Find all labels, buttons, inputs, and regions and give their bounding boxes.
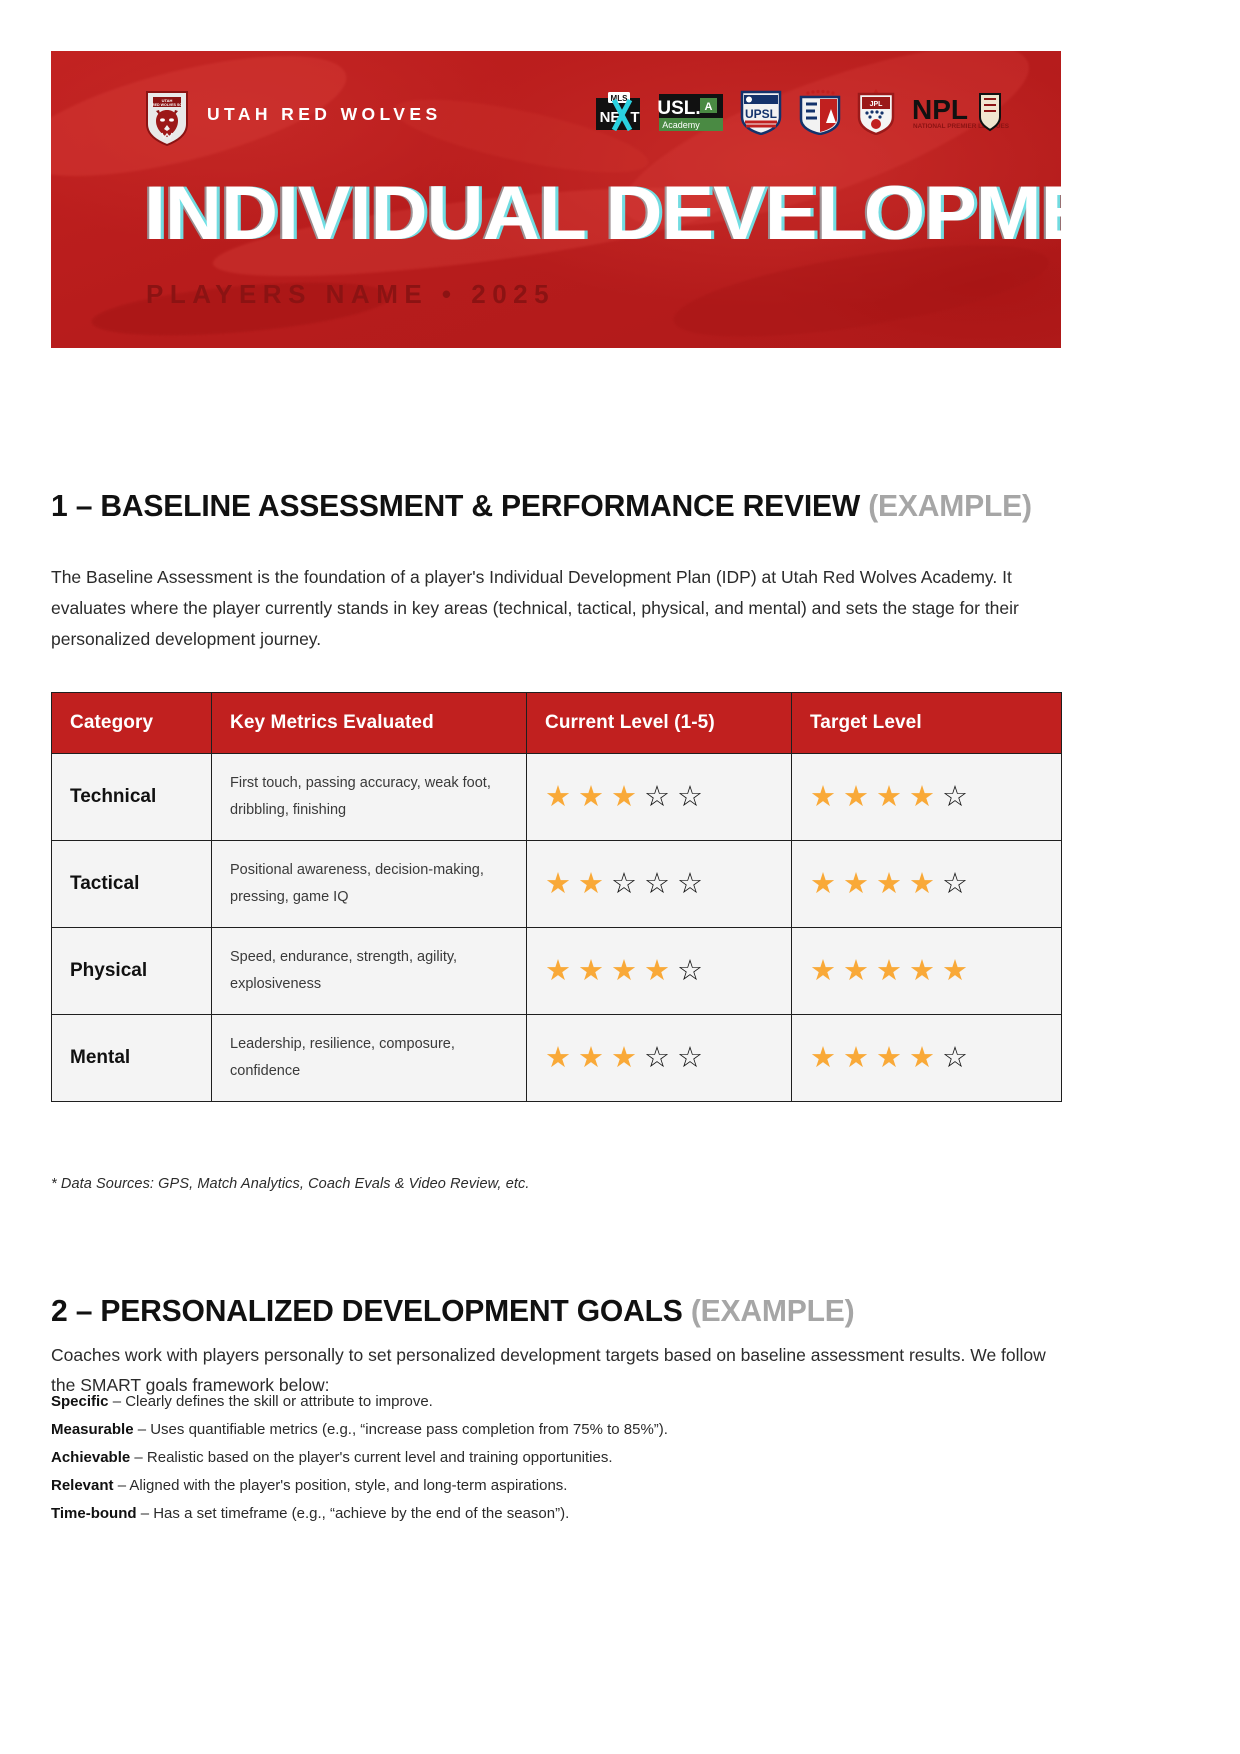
star-filled-icon: ★: [909, 1044, 935, 1073]
star-empty-icon: ☆: [611, 870, 637, 899]
column-header-key-metrics: Key Metrics Evaluated: [212, 693, 527, 754]
baseline-assessment-table: Category Key Metrics Evaluated Current L…: [51, 692, 1062, 1102]
club-name: UTAH RED WOLVES: [207, 104, 442, 125]
star-filled-icon: ★: [909, 957, 935, 986]
league-logo-row: MLS NE T USL. A Academy UPSL: [592, 87, 1016, 137]
smart-goal-item: Specific – Clearly defines the skill or …: [51, 1388, 1061, 1416]
wolf-crest-icon: UTAH RED WOLVES SC: [144, 90, 190, 146]
star-filled-icon: ★: [611, 1044, 637, 1073]
smart-goal-text: – Aligned with the player's position, st…: [114, 1477, 568, 1494]
star-empty-icon: ☆: [644, 870, 670, 899]
star-filled-icon: ★: [611, 783, 637, 812]
star-filled-icon: ★: [876, 783, 902, 812]
cell-key-metrics: Speed, endurance, strength, agility, exp…: [212, 928, 527, 1015]
smart-goal-term: Achievable: [51, 1449, 130, 1466]
current-level-stars: ★★★☆☆: [545, 1044, 773, 1073]
svg-text:RED WOLVES SC: RED WOLVES SC: [152, 103, 182, 107]
target-level-stars: ★★★★☆: [810, 783, 1043, 812]
page-subtitle: PLAYERS NAME • 2025: [146, 279, 555, 310]
star-empty-icon: ☆: [644, 1044, 670, 1073]
star-filled-icon: ★: [876, 1044, 902, 1073]
cell-category: Physical: [52, 928, 212, 1015]
star-empty-icon: ☆: [942, 1044, 968, 1073]
star-filled-icon: ★: [843, 957, 869, 986]
cell-target-level: ★★★★☆: [792, 754, 1062, 841]
svg-text:Academy: Academy: [662, 120, 700, 130]
cell-current-level: ★★☆☆☆: [527, 841, 792, 928]
cell-current-level: ★★★☆☆: [527, 754, 792, 841]
star-filled-icon: ★: [810, 957, 836, 986]
cell-current-level: ★★★★☆: [527, 928, 792, 1015]
smart-goal-item: Time-bound – Has a set timeframe (e.g., …: [51, 1500, 1061, 1528]
smart-goal-term: Time-bound: [51, 1505, 137, 1522]
star-filled-icon: ★: [843, 870, 869, 899]
star-empty-icon: ☆: [942, 783, 968, 812]
upsl-logo: UPSL: [738, 89, 784, 135]
cell-target-level: ★★★★☆: [792, 1015, 1062, 1102]
star-filled-icon: ★: [578, 783, 604, 812]
table-row: PhysicalSpeed, endurance, strength, agil…: [52, 928, 1062, 1015]
smart-goal-text: – Has a set timeframe (e.g., “achieve by…: [137, 1505, 570, 1522]
cell-target-level: ★★★★☆: [792, 841, 1062, 928]
star-filled-icon: ★: [843, 1044, 869, 1073]
star-empty-icon: ☆: [644, 783, 670, 812]
star-filled-icon: ★: [545, 957, 571, 986]
section-2-tag: (EXAMPLE): [691, 1293, 855, 1328]
cell-category: Mental: [52, 1015, 212, 1102]
npl-logo: NPL NATIONAL PREMIER LEAGUES: [910, 91, 1016, 133]
smart-goal-text: – Clearly defines the skill or attribute…: [109, 1393, 433, 1410]
table-footnote: * Data Sources: GPS, Match Analytics, Co…: [51, 1176, 529, 1192]
cell-category: Tactical: [52, 841, 212, 928]
star-filled-icon: ★: [545, 1044, 571, 1073]
star-empty-icon: ☆: [677, 1044, 703, 1073]
document-page: UTAH RED WOLVES SC UTAH RED WOLVES MLS N…: [0, 0, 1240, 1754]
smart-goal-item: Measurable – Uses quantifiable metrics (…: [51, 1416, 1061, 1444]
smart-goal-term: Specific: [51, 1393, 109, 1410]
smart-goal-item: Achievable – Realistic based on the play…: [51, 1444, 1061, 1472]
current-level-stars: ★★☆☆☆: [545, 870, 773, 899]
target-level-stars: ★★★★☆: [810, 1044, 1043, 1073]
star-filled-icon: ★: [578, 1044, 604, 1073]
star-filled-icon: ★: [876, 870, 902, 899]
star-filled-icon: ★: [942, 957, 968, 986]
current-level-stars: ★★★☆☆: [545, 783, 773, 812]
cell-key-metrics: Leadership, resilience, composure, confi…: [212, 1015, 527, 1102]
section-1-paragraph: The Baseline Assessment is the foundatio…: [51, 562, 1059, 655]
cell-target-level: ★★★★★: [792, 928, 1062, 1015]
cell-current-level: ★★★☆☆: [527, 1015, 792, 1102]
section-2-number: 2 –: [51, 1293, 100, 1328]
section-1-tag: (EXAMPLE): [868, 488, 1032, 523]
table-row: TacticalPositional awareness, decision-m…: [52, 841, 1062, 928]
svg-text:A: A: [705, 101, 713, 113]
svg-text:T: T: [630, 109, 639, 126]
header-banner: UTAH RED WOLVES SC UTAH RED WOLVES MLS N…: [51, 51, 1061, 348]
column-header-current-level: Current Level (1-5): [527, 693, 792, 754]
usl-academy-logo: USL. A Academy: [658, 90, 724, 134]
ecnl-logo: [798, 89, 842, 135]
svg-text:NPL: NPL: [912, 94, 968, 125]
star-filled-icon: ★: [876, 957, 902, 986]
star-filled-icon: ★: [843, 783, 869, 812]
table-row: TechnicalFirst touch, passing accuracy, …: [52, 754, 1062, 841]
svg-text:JPL: JPL: [870, 101, 884, 108]
mls-next-logo: MLS NE T: [592, 90, 644, 134]
smart-goals-list: Specific – Clearly defines the skill or …: [51, 1388, 1061, 1528]
star-filled-icon: ★: [810, 783, 836, 812]
star-filled-icon: ★: [578, 957, 604, 986]
section-1-heading: 1 – BASELINE ASSESSMENT & PERFORMANCE RE…: [51, 488, 1032, 524]
svg-text:UPSL: UPSL: [745, 107, 777, 121]
cell-key-metrics: Positional awareness, decision-making, p…: [212, 841, 527, 928]
target-level-stars: ★★★★☆: [810, 870, 1043, 899]
star-filled-icon: ★: [810, 870, 836, 899]
smart-goal-term: Relevant: [51, 1477, 114, 1494]
target-level-stars: ★★★★★: [810, 957, 1043, 986]
jpl-logo: JPL: [856, 89, 896, 135]
star-filled-icon: ★: [545, 870, 571, 899]
star-filled-icon: ★: [611, 957, 637, 986]
section-2-title: PERSONALIZED DEVELOPMENT GOALS: [100, 1293, 690, 1328]
section-1-title: BASELINE ASSESSMENT & PERFORMANCE REVIEW: [100, 488, 868, 523]
star-filled-icon: ★: [578, 870, 604, 899]
star-empty-icon: ☆: [677, 870, 703, 899]
table-row: MentalLeadership, resilience, composure,…: [52, 1015, 1062, 1102]
cell-key-metrics: First touch, passing accuracy, weak foot…: [212, 754, 527, 841]
column-header-target-level: Target Level: [792, 693, 1062, 754]
star-filled-icon: ★: [644, 957, 670, 986]
star-filled-icon: ★: [810, 1044, 836, 1073]
star-empty-icon: ☆: [942, 870, 968, 899]
section-2-heading: 2 – PERSONALIZED DEVELOPMENT GOALS (EXAM…: [51, 1293, 854, 1329]
smart-goal-term: Measurable: [51, 1421, 134, 1438]
current-level-stars: ★★★★☆: [545, 957, 773, 986]
cell-category: Technical: [52, 754, 212, 841]
star-filled-icon: ★: [545, 783, 571, 812]
smart-goal-text: – Uses quantifiable metrics (e.g., “incr…: [134, 1421, 668, 1438]
star-filled-icon: ★: [909, 783, 935, 812]
section-1-number: 1 –: [51, 488, 100, 523]
table-header-row: Category Key Metrics Evaluated Current L…: [52, 693, 1062, 754]
star-filled-icon: ★: [909, 870, 935, 899]
smart-goal-text: – Realistic based on the player's curren…: [130, 1449, 612, 1466]
star-empty-icon: ☆: [677, 783, 703, 812]
smart-goal-item: Relevant – Aligned with the player's pos…: [51, 1472, 1061, 1500]
page-title: INDIVIDUAL DEVELOPMENT PLAN: [144, 176, 1061, 252]
column-header-category: Category: [52, 693, 212, 754]
star-empty-icon: ☆: [677, 957, 703, 986]
svg-text:USL.: USL.: [658, 98, 701, 119]
